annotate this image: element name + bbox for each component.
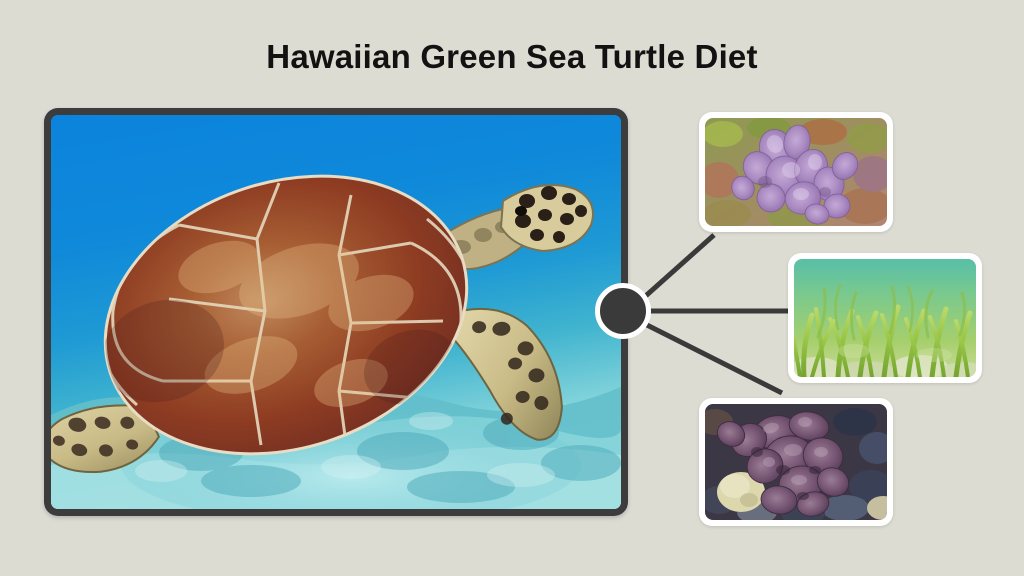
slide-canvas: Hawaiian Green Sea Turtle Diet xyxy=(0,0,1024,576)
thumb-seagrass-image xyxy=(794,259,976,377)
seagrass-illustration xyxy=(794,259,976,377)
thumb-limu-kohu[interactable] xyxy=(699,112,893,232)
thumb-seagrass[interactable] xyxy=(788,253,982,383)
thumb-red-algae-image xyxy=(705,404,887,520)
diet-hub[interactable] xyxy=(595,283,651,339)
page-title: Hawaiian Green Sea Turtle Diet xyxy=(0,38,1024,76)
connector-to-limu-kohu xyxy=(640,235,714,301)
thumb-limu-kohu-image xyxy=(705,118,887,226)
limu-kohu-illustration xyxy=(705,118,887,226)
main-photo-frame[interactable] xyxy=(44,108,628,516)
thumb-red-algae[interactable] xyxy=(699,398,893,526)
turtle-illustration xyxy=(51,115,621,509)
red-algae-illustration xyxy=(705,404,887,520)
green-sea-turtle-photo xyxy=(51,115,621,509)
connector-to-red-algae xyxy=(641,322,782,393)
